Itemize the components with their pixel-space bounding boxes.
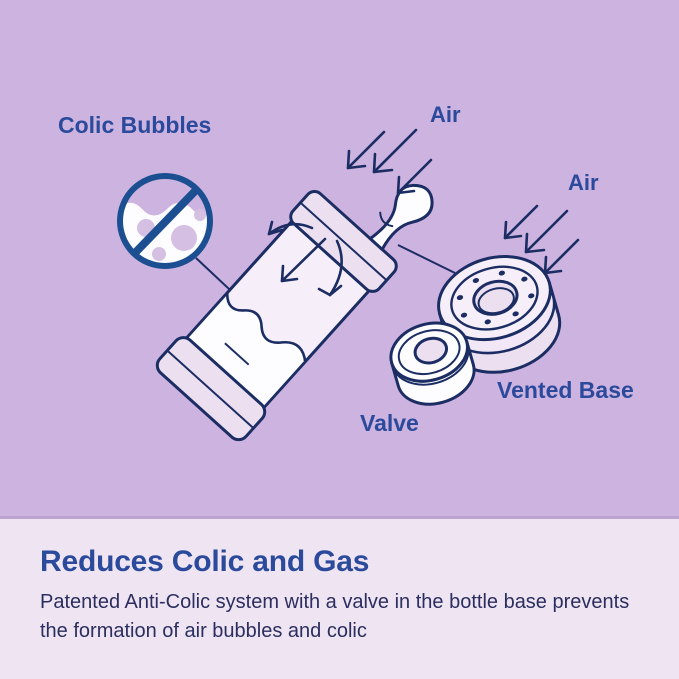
label-valve: Valve — [360, 410, 419, 436]
air-arrow-r1 — [505, 206, 537, 238]
caption-title: Reduces Colic and Gas — [40, 545, 639, 578]
air-arrow-l1 — [348, 132, 384, 168]
bubble-icon-bubble-3 — [152, 247, 166, 261]
label-air-left: Air — [430, 102, 461, 127]
air-inflow-arrows-left — [348, 130, 431, 193]
air-arrow-r3 — [545, 240, 578, 273]
bubble-icon-bubble-2 — [171, 225, 197, 251]
infographic-card: Colic Bubbles Air Air Valve Vented Base … — [0, 0, 679, 679]
label-air-right: Air — [568, 170, 599, 195]
caption-body: Patented Anti-Colic system with a valve … — [40, 588, 639, 646]
no-colic-bubbles-icon — [118, 174, 214, 272]
diagram-panel: Colic Bubbles Air Air Valve Vented Base — [0, 0, 679, 516]
bubble-icon-bubble-4 — [194, 209, 206, 221]
label-vented-base: Vented Base — [497, 377, 634, 403]
air-arrow-r2 — [526, 211, 567, 252]
caption-panel: Reduces Colic and Gas Patented Anti-Coli… — [0, 519, 679, 679]
leader-line-vented-base — [398, 245, 455, 273]
label-colic-bubbles: Colic Bubbles — [58, 112, 211, 138]
anti-colic-diagram: Colic Bubbles Air Air Valve Vented Base — [0, 0, 679, 516]
